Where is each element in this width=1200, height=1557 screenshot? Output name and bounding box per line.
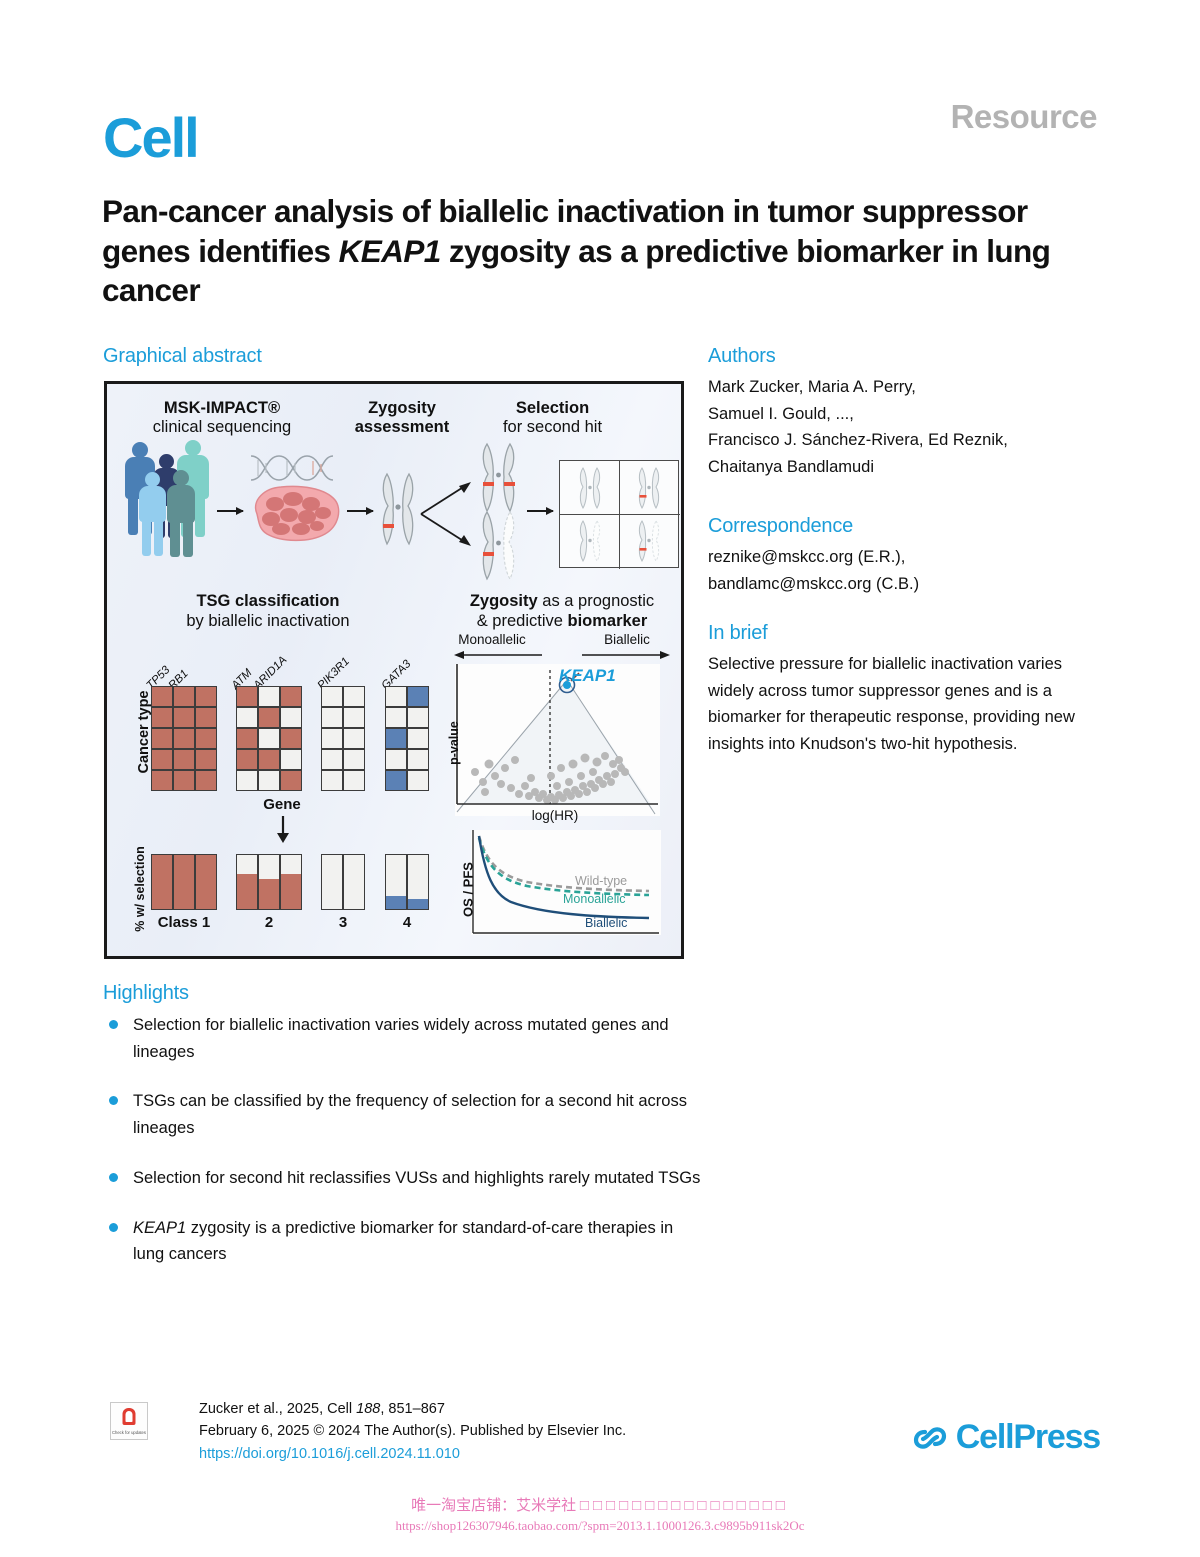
correspondence-list: reznike@mskcc.org (E.R.), bandlamc@mskcc…: [708, 544, 1098, 597]
bullet-icon: [109, 1173, 118, 1182]
authors-heading: Authors: [708, 345, 1098, 368]
ga-step1-subtitle: clinical sequencing: [153, 418, 292, 436]
highlight-italic: KEAP1: [133, 1219, 186, 1237]
ga-step2-title: Zygosity: [368, 399, 436, 417]
volcano-plot: [455, 664, 660, 816]
bar-y-axis-label: % w/ selection: [133, 844, 147, 934]
volcano-annotation-keap1: KEAP1: [559, 666, 616, 686]
cell-journal-logo: Cell: [103, 110, 198, 166]
journal-cover-page: Cell Resource Pan-cancer analysis of bia…: [0, 0, 1200, 1557]
title-italic-gene: KEAP1: [339, 233, 441, 269]
crossmark-icon: [123, 1408, 136, 1425]
highlight-body: zygosity is a predictive biomarker for s…: [133, 1219, 673, 1264]
in-brief-text: Selective pressure for biallelic inactiv…: [708, 651, 1086, 758]
survival-label-wildtype: Wild-type: [575, 874, 627, 888]
class-label-3: 3: [321, 914, 365, 931]
bullet-icon: [109, 1020, 118, 1029]
tsg-panel-title: TSG classification by biallelic inactiva…: [123, 592, 413, 632]
chromosome-loh-icon: [479, 510, 521, 582]
list-item: Selection for second hit reclassifies VU…: [103, 1165, 703, 1192]
graphical-abstract-figure: MSK-IMPACT® clinical sequencing Zygosity…: [104, 381, 684, 959]
biomarker-title-rest1: as a prognostic: [538, 592, 654, 610]
author-line: Francisco J. Sánchez-Rivera, Ed Reznik,: [708, 427, 1098, 454]
down-arrow-icon: [275, 816, 291, 844]
volcano-x-axis-label: log(HR): [505, 808, 605, 823]
selection-matrix: [559, 460, 679, 568]
heatmap-y-axis-label: Cancer type: [136, 677, 152, 787]
highlight-text: TSGs can be classified by the frequency …: [133, 1088, 703, 1141]
volcano-y-axis-label: p-value: [447, 708, 461, 778]
highlights-heading: Highlights: [103, 982, 189, 1005]
doi-link[interactable]: https://doi.org/10.1016/j.cell.2024.11.0…: [199, 1443, 626, 1465]
watermark-line-1: 唯一淘宝店铺：艾米学社 □□□□□□□□□□□□□□□□: [0, 1494, 1200, 1515]
correspondence-heading: Correspondence: [708, 515, 1098, 538]
crossmark-label: Check for updates: [111, 1430, 147, 1436]
highlight-text: Selection for biallelic inactivation var…: [133, 1012, 703, 1065]
dna-helix-icon: [247, 452, 335, 484]
graphical-abstract-heading: Graphical abstract: [103, 345, 262, 368]
correspondence-email[interactable]: bandlamc@mskcc.org (C.B.): [708, 571, 1098, 598]
class-label-2: 2: [236, 914, 302, 931]
highlight-text: KEAP1 zygosity is a predictive biomarker…: [133, 1215, 703, 1268]
matrix-cell-biallelic: [637, 520, 663, 562]
list-item: KEAP1 zygosity is a predictive biomarker…: [103, 1215, 703, 1268]
tsg-title-line1: TSG classification: [196, 592, 339, 610]
author-line: Mark Zucker, Maria A. Perry,: [708, 374, 1098, 401]
bullet-icon: [109, 1223, 118, 1232]
biomarker-title-bold2: biomarker: [568, 612, 648, 630]
volcano-direction-arrows: [442, 648, 682, 662]
highlight-text: Selection for second hit reclassifies VU…: [133, 1165, 703, 1192]
highlight-body: TSGs can be classified by the frequency …: [133, 1092, 687, 1137]
cellpress-wordmark: CellPress: [956, 1418, 1100, 1457]
citation-line-1: Zucker et al., 2025, Cell 188, 851–867: [199, 1398, 626, 1420]
article-type-label: Resource: [951, 98, 1097, 136]
citation-line-2: February 6, 2025 © 2024 The Author(s). P…: [199, 1420, 626, 1442]
authors-list: Mark Zucker, Maria A. Perry, Samuel I. G…: [708, 374, 1098, 481]
arrow-people-to-sample: [217, 510, 243, 512]
matrix-cell-wildtype: [578, 467, 604, 509]
class-label-1: Class 1: [147, 914, 221, 931]
branch-arrows: [419, 476, 477, 552]
matrix-cell-loh: [578, 520, 604, 562]
ga-step3-subtitle: for second hit: [503, 418, 602, 436]
chromosome-source-icon: [379, 472, 419, 548]
highlight-body: Selection for second hit reclassifies VU…: [133, 1169, 700, 1187]
cellpress-chain-icon: [913, 1424, 947, 1452]
watermark-blocks: □□□□□□□□□□□□□□□□: [580, 1498, 789, 1514]
citation-pages: , 851–867: [380, 1401, 445, 1417]
citation-block: Zucker et al., 2025, Cell 188, 851–867 F…: [199, 1398, 626, 1465]
arrow-sample-to-zygosity: [347, 510, 373, 512]
watermark-line-2: https://shop126307946.taobao.com/?spm=20…: [0, 1518, 1200, 1534]
author-line: Samuel I. Gould, ...,: [708, 401, 1098, 428]
matrix-cell-monoallelic: [637, 467, 663, 509]
ga-step1-title: MSK-IMPACT®: [164, 399, 280, 417]
survival-plot: Wild-type Monoallelic Biallelic: [471, 830, 661, 935]
page-title: Pan-cancer analysis of biallelic inactiv…: [102, 192, 1092, 311]
biomarker-panel-title: Zygosity as a prognostic & predictive bi…: [437, 592, 684, 632]
survival-y-axis-label: OS / PFS: [461, 855, 476, 925]
class-label-4: 4: [385, 914, 429, 931]
ga-step2-subtitle: assessment: [355, 418, 449, 436]
correspondence-email[interactable]: reznike@mskcc.org (E.R.),: [708, 544, 1098, 571]
list-item: TSGs can be classified by the frequency …: [103, 1088, 703, 1141]
in-brief-heading: In brief: [708, 622, 1098, 645]
ga-step3-title: Selection: [516, 399, 589, 417]
watermark-shop-name: 唯一淘宝店铺：艾米学社: [411, 1498, 576, 1514]
biomarker-title-rest2: & predictive: [477, 612, 568, 630]
heatmap-x-axis-label: Gene: [237, 796, 327, 813]
volcano-right-label: Biallelic: [577, 632, 677, 647]
list-item: Selection for biallelic inactivation var…: [103, 1012, 703, 1065]
citation-volume: 188: [356, 1401, 380, 1417]
chromosome-biallelic-icon: [479, 442, 521, 514]
arrow-zygosity-to-selection: [527, 510, 553, 512]
biomarker-title-bold1: Zygosity: [470, 592, 538, 610]
survival-label-biallelic: Biallelic: [585, 916, 627, 930]
tsg-title-line2: by biallelic inactivation: [186, 612, 349, 630]
volcano-left-label: Monoallelic: [437, 632, 547, 647]
author-line: Chaitanya Bandlamudi: [708, 454, 1098, 481]
survival-label-monoallelic: Monoallelic: [563, 892, 626, 906]
bullet-icon: [109, 1096, 118, 1105]
cellpress-logo: CellPress: [913, 1418, 1100, 1457]
crossmark-badge[interactable]: Check for updates: [110, 1402, 148, 1440]
highlight-body: Selection for biallelic inactivation var…: [133, 1016, 669, 1061]
citation-prefix: Zucker et al., 2025, Cell: [199, 1401, 356, 1417]
tumor-tissue-icon: [247, 482, 343, 544]
highlights-list: Selection for biallelic inactivation var…: [103, 1012, 703, 1291]
